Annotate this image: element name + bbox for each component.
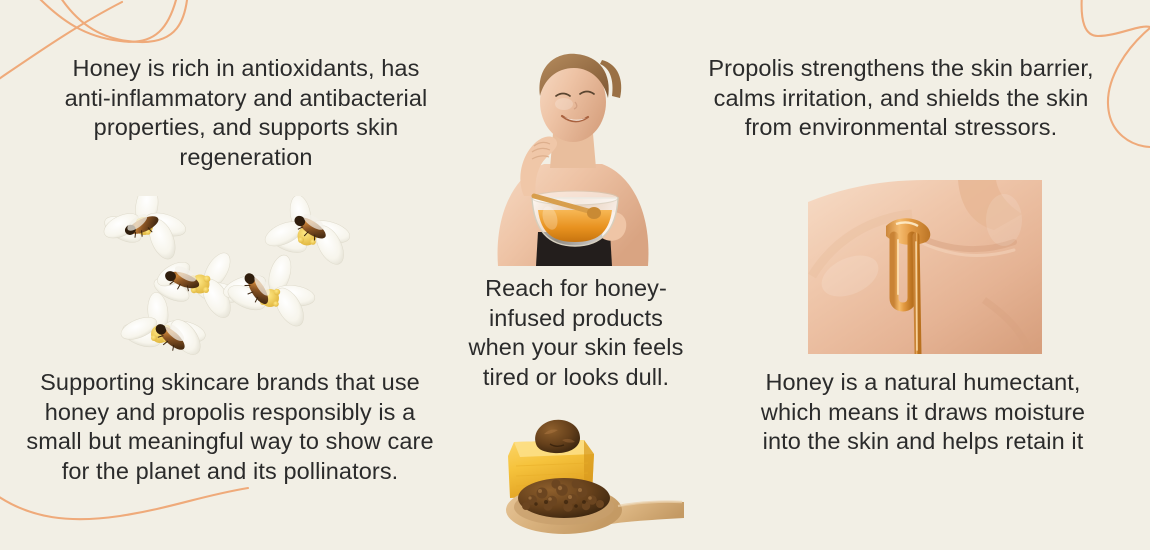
deco-line-bottom-left-wave <box>0 488 248 519</box>
woman-holding-honey-bowl-photo <box>472 46 674 266</box>
infographic-canvas: Honey is rich in antioxidants, has anti-… <box>0 0 1150 550</box>
text-honey-antioxidants: Honey is rich in antioxidants, has anti-… <box>56 54 436 172</box>
deco-line-top-right-wave <box>1082 0 1150 36</box>
bees-on-white-blossoms-photo <box>96 196 354 368</box>
deco-line-top-left-arc <box>35 0 178 42</box>
text-reach-for-honey: Reach for honey-infused products when yo… <box>462 274 690 392</box>
deco-line-top-right-scurve <box>1108 28 1150 147</box>
deco-line-top-left-arc2 <box>57 0 188 42</box>
text-propolis-barrier: Propolis strengthens the skin barrier, c… <box>706 54 1096 143</box>
honey-drizzle-on-shoulder-photo <box>808 180 1042 354</box>
text-honey-humectant: Honey is a natural humectant, which mean… <box>742 368 1104 457</box>
beeswax-and-propolis-spoon-photo <box>488 414 684 536</box>
text-supporting-brands: Supporting skincare brands that use hone… <box>16 368 444 486</box>
